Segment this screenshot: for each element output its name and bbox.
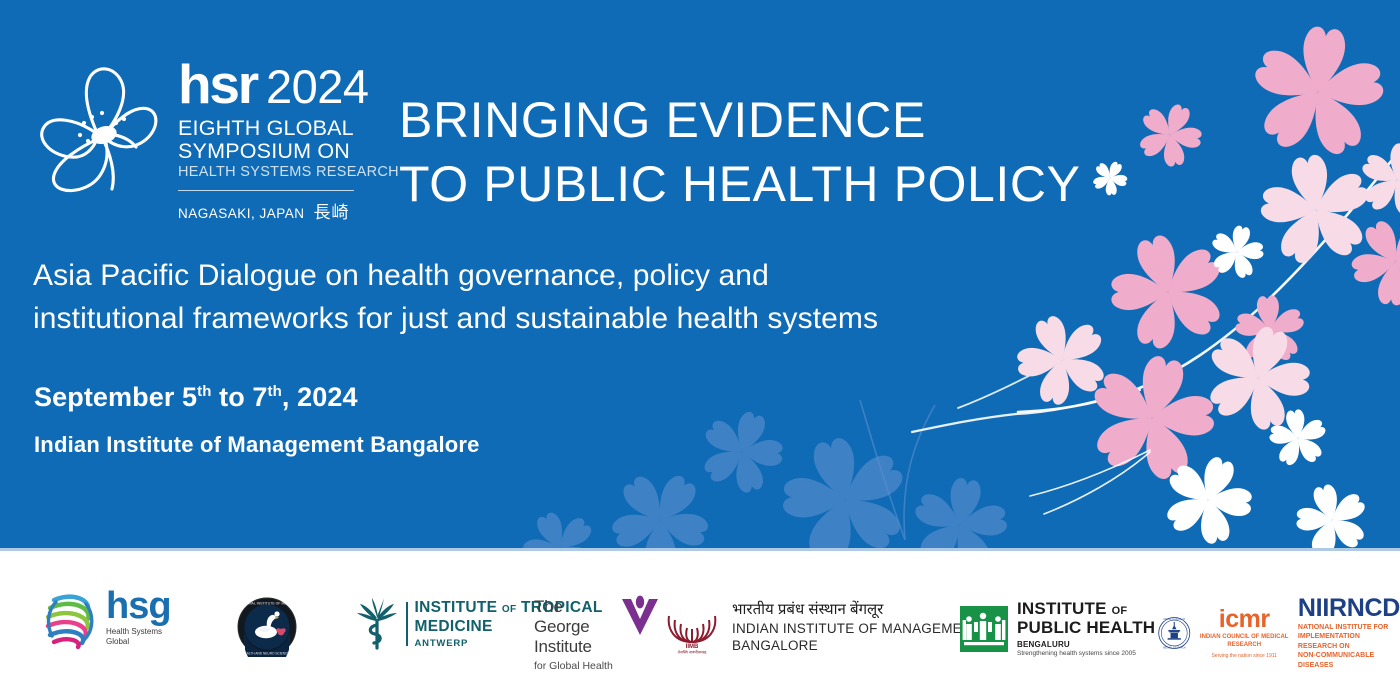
hsr-location-text: NAGASAKI, JAPAN <box>178 206 305 221</box>
niirncd-text-block: NIIRNCD NATIONAL INSTITUTE FOR IMPLEMENT… <box>1298 597 1400 670</box>
hsr-year: 2024 <box>266 65 369 108</box>
hsr-logo-text: hsr 2024 EIGHTH GLOBAL SYMPOSIUM ON HEAL… <box>178 55 399 223</box>
headline-line-2: TO PUBLIC HEALTH POLICY <box>399 152 1081 216</box>
george-chevron-icon <box>619 595 663 641</box>
partner-logo-iim-bangalore[interactable]: IIMB तेजस्वि नावधीतमस्तु भारतीय प्रबंध स… <box>663 600 980 655</box>
iimb-english-line-1: INDIAN INSTITUTE OF MANAGEMENT <box>732 620 980 638</box>
niirncd-subtext-line-2: IMPLEMENTATION RESEARCH ON <box>1298 632 1400 651</box>
icmr-wordmark: icmr <box>1219 608 1270 631</box>
event-venue: Indian Institute of Management Bangalore <box>34 432 480 458</box>
iimb-text-block: भारतीय प्रबंध संस्थान बेंगलूर INDIAN INS… <box>732 600 980 655</box>
icmr-emblem-icon: INDIAN COUNCIL OF MEDICAL RESEARCH <box>1158 609 1191 657</box>
iimb-english-line-2: BANGALORE <box>732 637 980 655</box>
partner-logo-hsg[interactable]: hsg Health Systems Global <box>40 588 171 650</box>
niirncd-subtext-line-1: NATIONAL INSTITUTE FOR <box>1298 623 1400 632</box>
itm-palm-serpent-icon <box>355 598 399 650</box>
iph-tagline: Strengthening health systems since 2005 <box>1017 650 1155 657</box>
partner-logo-icmr-niirncd[interactable]: INDIAN COUNCIL OF MEDICAL RESEARCH icmr … <box>1158 597 1400 670</box>
george-line-2: George <box>534 617 613 637</box>
hsr-location: NAGASAKI, JAPAN長崎 <box>178 198 399 223</box>
hsg-coil-icon <box>40 588 98 650</box>
icmr-subtext: INDIAN COUNCIL OF MEDICAL RESEARCH <box>1199 634 1290 650</box>
svg-text:INDIAN COUNCIL OF: INDIAN COUNCIL OF <box>1163 618 1185 621</box>
hsg-subtext: Health Systems Global <box>106 627 171 647</box>
hsr-line-eighth-global: EIGHTH GLOBAL <box>178 117 399 140</box>
hsg-subtext-line-1: Health Systems <box>106 627 171 637</box>
iph-text-block: INSTITUTE OF PUBLIC HEALTH BENGALURU Str… <box>1017 600 1155 657</box>
event-date: September 5th to 7th, 2024 <box>34 382 358 413</box>
iph-city: BENGALURU <box>1017 640 1155 649</box>
subtitle-line-1: Asia Pacific Dialogue on health governan… <box>33 255 878 298</box>
icmr-tagline: Serving the nation since 1911 <box>1211 653 1277 659</box>
partner-logo-nimhans[interactable]: NATIONAL INSTITUTE OF MENTAL HEALTH AND … <box>237 597 297 657</box>
hsr-wordmark: hsr <box>178 59 257 110</box>
iph-line-1: INSTITUTE OF <box>1017 600 1155 619</box>
george-subtitle: for Global Health <box>534 660 613 672</box>
iph-line-1b: OF <box>1112 605 1128 617</box>
george-line-1: The <box>534 597 613 617</box>
iph-line-2: PUBLIC HEALTH <box>1017 619 1155 638</box>
iimb-emblem-icon: IIMB तेजस्वि नावधीतमस्तु <box>663 602 721 654</box>
banner-headline: BRINGING EVIDENCE TO PUBLIC HEALTH POLIC… <box>399 88 1081 216</box>
icmr-text-block: icmr INDIAN COUNCIL OF MEDICAL RESEARCH … <box>1199 608 1290 658</box>
hsr-line-health-systems-research: HEALTH SYSTEMS RESEARCH <box>178 165 399 181</box>
hsr-logo-divider <box>178 190 354 191</box>
hsr-logo-lockup: hsr 2024 EIGHTH GLOBAL SYMPOSIUM ON HEAL… <box>36 55 399 223</box>
niirncd-subtext: NATIONAL INSTITUTE FOR IMPLEMENTATION RE… <box>1298 623 1400 670</box>
hero-panel: hsr 2024 EIGHTH GLOBAL SYMPOSIUM ON HEAL… <box>0 0 1400 548</box>
date-suffix: , 2024 <box>282 382 358 412</box>
conference-banner: hsr 2024 EIGHTH GLOBAL SYMPOSIUM ON HEAL… <box>0 0 1400 700</box>
niirncd-subtext-line-3: NON-COMMUNICABLE DISEASES <box>1298 651 1400 670</box>
itm-line-1b: OF <box>502 604 517 615</box>
george-text-block: The George Institute for Global Health <box>534 597 613 672</box>
date-middle: to 7 <box>212 382 268 412</box>
hsr-location-japanese: 長崎 <box>314 203 350 222</box>
butterfly-icon <box>36 61 164 206</box>
headline-line-1: BRINGING EVIDENCE <box>399 88 1081 152</box>
george-line-3: Institute <box>534 637 613 657</box>
date-ordinal-first: th <box>197 383 211 400</box>
hsg-subtext-line-2: Global <box>106 637 171 647</box>
iph-line-1a: INSTITUTE <box>1017 599 1112 618</box>
svg-text:NATIONAL INSTITUTE OF MENTAL: NATIONAL INSTITUTE OF MENTAL <box>239 601 296 605</box>
banner-subtitle: Asia Pacific Dialogue on health governan… <box>33 255 878 340</box>
subtitle-line-2: institutional frameworks for just and su… <box>33 298 878 341</box>
itm-divider <box>406 602 408 646</box>
niirncd-wordmark: NIIRNCD <box>1298 597 1400 621</box>
date-prefix: September 5 <box>34 382 197 412</box>
hsr-line-symposium-on: SYMPOSIUM ON <box>178 140 399 163</box>
hsg-wordmark: hsg <box>106 591 171 621</box>
svg-text:MEDICAL RESEARCH: MEDICAL RESEARCH <box>1163 647 1186 650</box>
partner-logo-iph-bengaluru[interactable]: INSTITUTE OF PUBLIC HEALTH BENGALURU Str… <box>960 600 1155 657</box>
partner-logo-george-institute[interactable]: The George Institute for Global Health <box>534 597 663 672</box>
svg-text:HEALTH AND NEURO SCIENCES: HEALTH AND NEURO SCIENCES <box>242 651 291 655</box>
svg-text:तेजस्वि नावधीतमस्तु: तेजस्वि नावधीतमस्तु <box>678 649 708 654</box>
itm-line-1a: INSTITUTE <box>415 599 502 616</box>
date-ordinal-second: th <box>268 383 282 400</box>
nimhans-seal-icon: NATIONAL INSTITUTE OF MENTAL HEALTH AND … <box>237 597 297 657</box>
iimb-hindi-name: भारतीय प्रबंध संस्थान बेंगलूर <box>732 600 980 620</box>
hsg-text-block: hsg Health Systems Global <box>106 591 171 646</box>
iph-people-icon <box>960 606 1008 652</box>
